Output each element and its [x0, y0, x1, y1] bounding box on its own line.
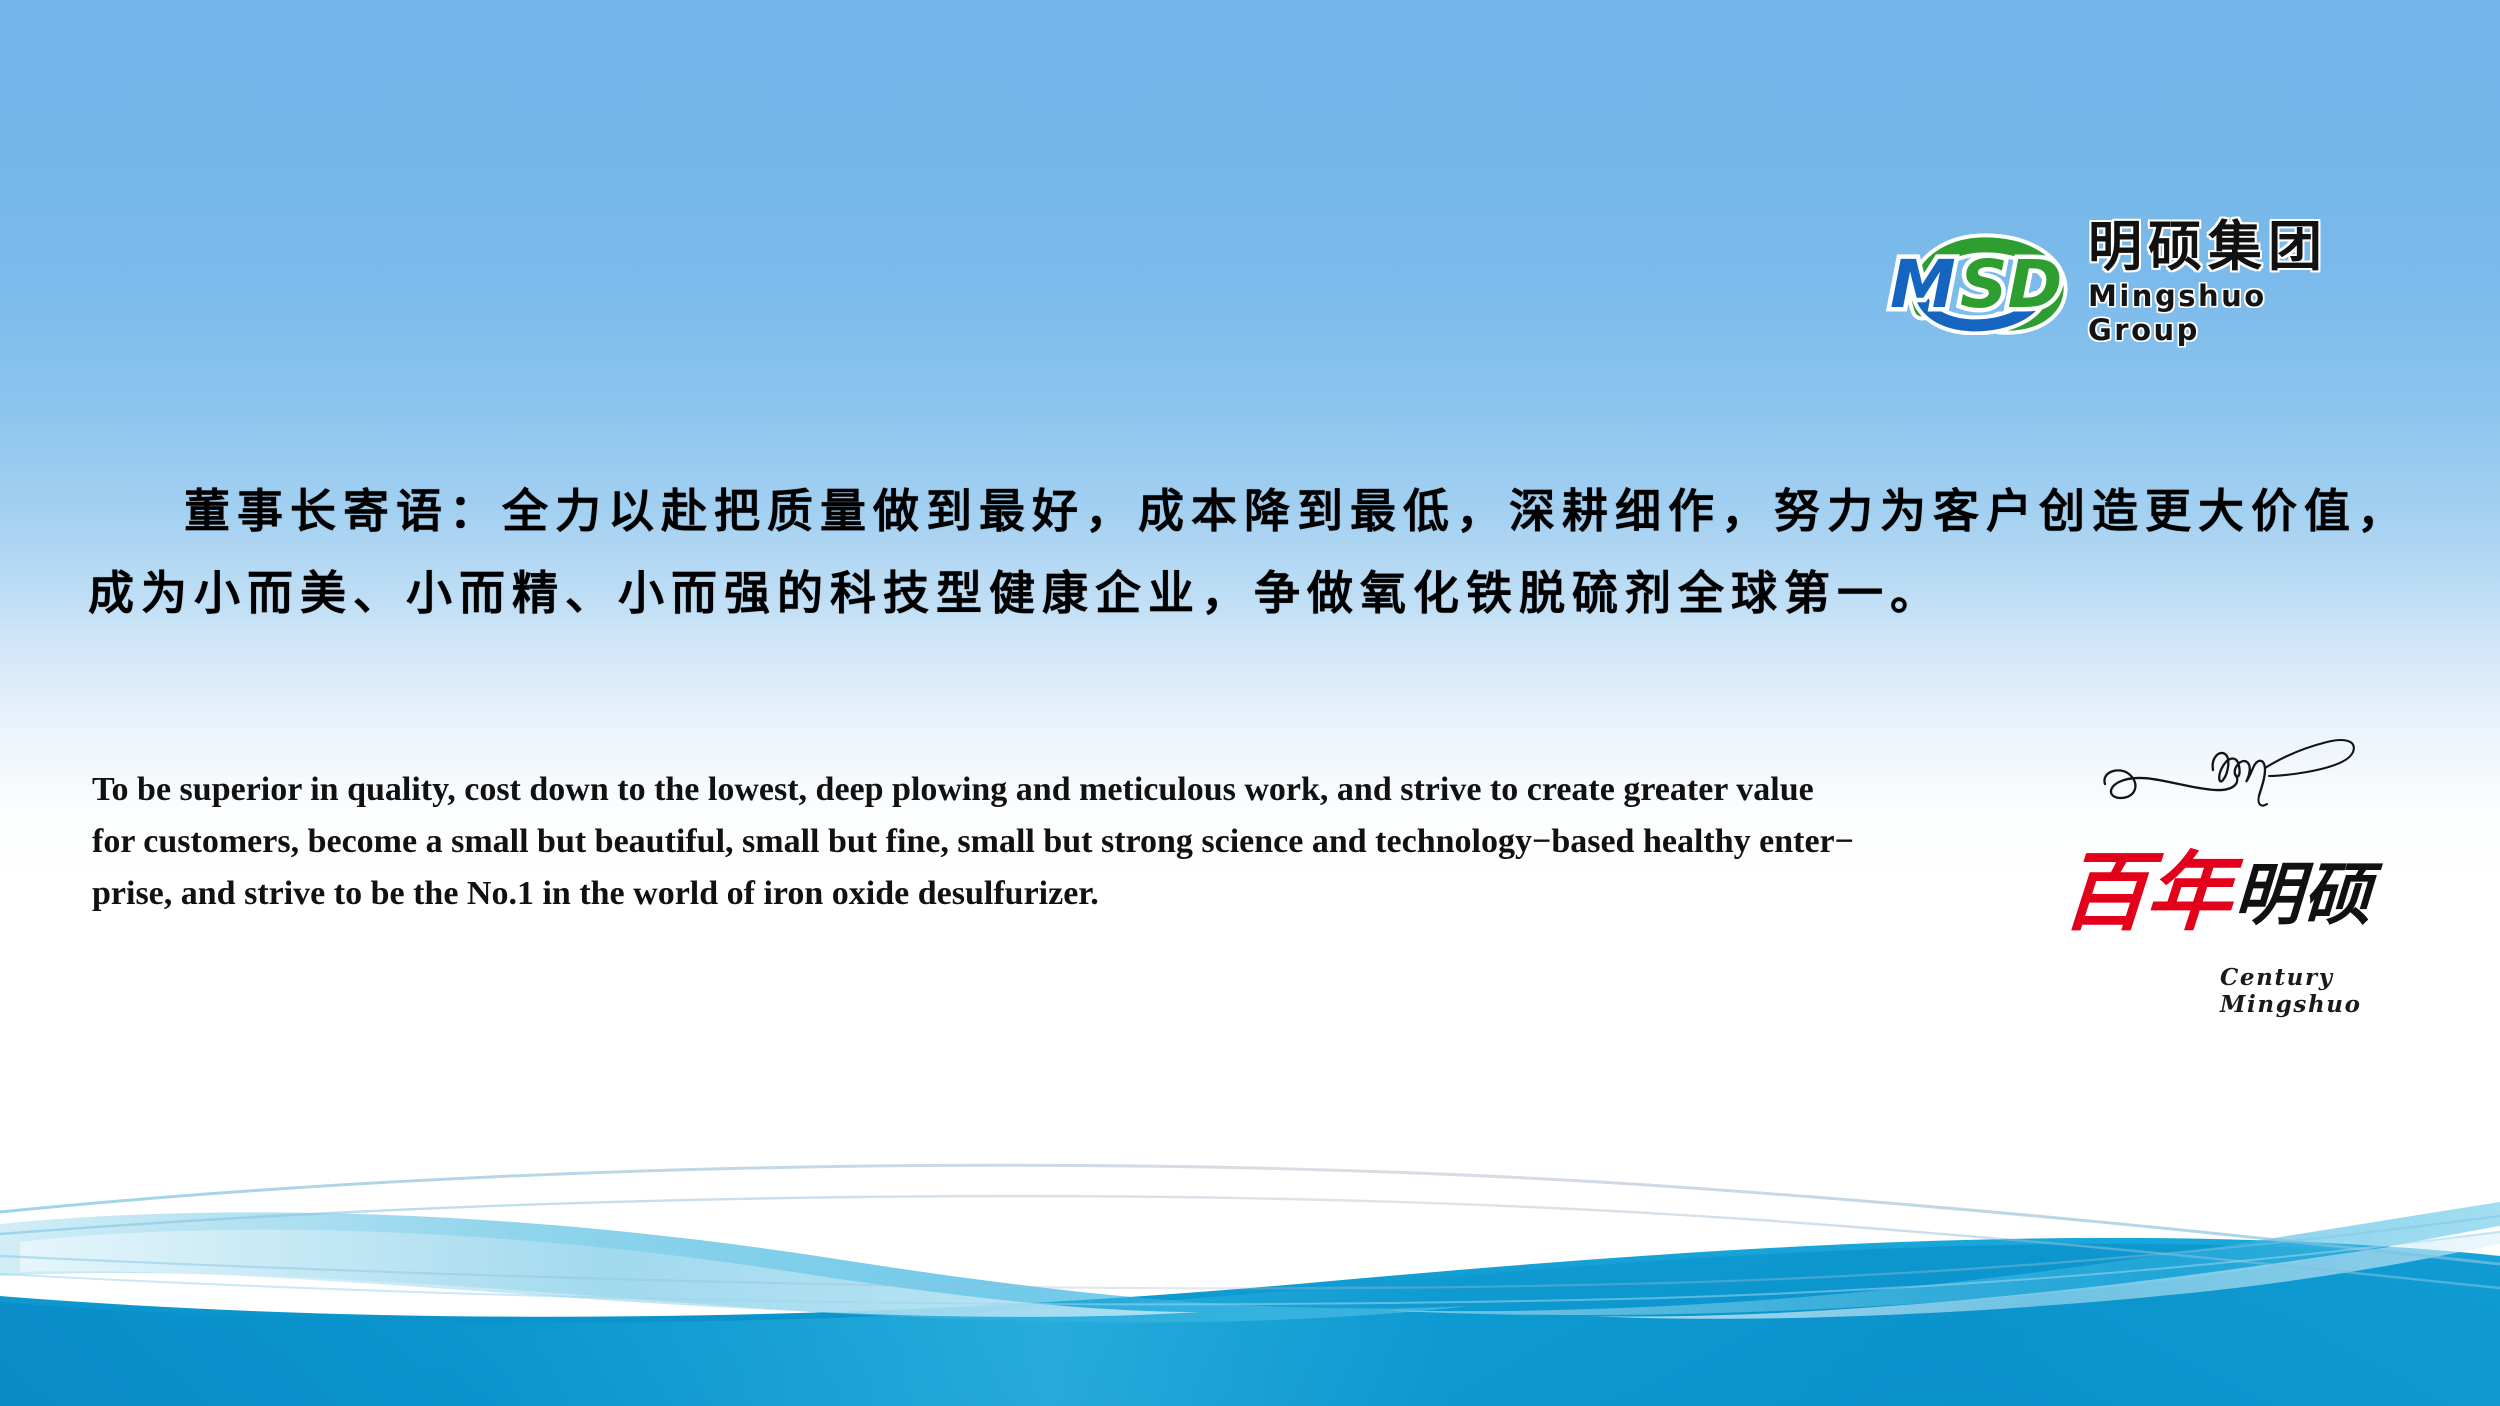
seal-text-english: Century Mingshuo — [2220, 964, 2462, 1018]
seal-characters-row: 百年 明硕 — [2062, 852, 2372, 934]
english-line-2: for customers, become a small but beauti… — [92, 816, 2022, 868]
msd-swoosh-icon: M SD — [1880, 231, 2080, 335]
seal-text-bainian: 百年 — [2059, 852, 2233, 934]
msd-letter-m: M — [1890, 246, 1956, 323]
bottom-wave-decoration — [0, 1106, 2500, 1406]
msd-letter-sd: SD — [1960, 246, 2062, 323]
signature-icon — [2085, 722, 2385, 822]
msd-logo-mark: M SD — [1880, 231, 2080, 335]
english-line-3: prise, and strive to be the No.1 in the … — [92, 868, 2022, 920]
slide-root: M SD 明硕集团 Mingshuo Group 董事长寄语：全力以赴把质量做到… — [0, 0, 2500, 1406]
chairman-message-english: To be superior in quality, cost down to … — [92, 764, 2022, 920]
seal-text-mingshuo: 明硕 — [2232, 863, 2374, 934]
logo-company-name-en: Mingshuo Group — [2088, 279, 2350, 347]
logo-text-block: 明硕集团 Mingshuo Group — [2088, 220, 2350, 347]
company-logo[interactable]: M SD 明硕集团 Mingshuo Group — [1880, 228, 2350, 338]
logo-company-name-cn: 明硕集团 — [2088, 220, 2350, 274]
english-line-1: To be superior in quality, cost down to … — [92, 764, 2022, 816]
chairman-message-chinese: 董事长寄语：全力以赴把质量做到最好，成本降到最低，深耕细作，努力为客户创造更大价… — [88, 470, 2418, 634]
chairman-signature — [2085, 722, 2385, 822]
century-mingshuo-seal: 百年 明硕 Century Mingshuo — [2062, 852, 2462, 1032]
